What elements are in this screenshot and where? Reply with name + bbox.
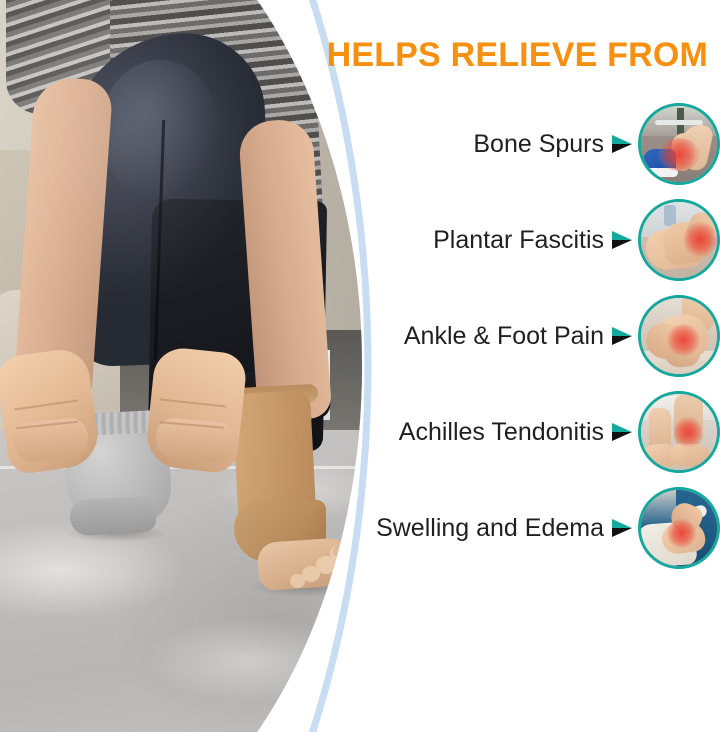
plantar-fascitis-thumbnail[interactable] bbox=[638, 199, 720, 281]
list-item[interactable]: Bone Spurs bbox=[330, 96, 720, 192]
thumbnail-image bbox=[641, 106, 717, 182]
condition-label: Plantar Fascitis bbox=[433, 228, 604, 253]
arrow-right-icon bbox=[610, 420, 634, 444]
pain-highlight bbox=[667, 519, 696, 548]
list-item[interactable]: Swelling and Edema bbox=[330, 480, 720, 576]
swelling-edema-thumbnail[interactable] bbox=[638, 487, 720, 569]
condition-label: Swelling and Edema bbox=[376, 516, 604, 541]
conditions-list: Bone Spurs bbox=[330, 96, 720, 576]
pain-highlight bbox=[684, 222, 717, 257]
ankle-foot-pain-thumbnail[interactable] bbox=[638, 295, 720, 377]
thumbnail-image bbox=[641, 490, 717, 566]
list-item[interactable]: Achilles Tendonitis bbox=[330, 384, 720, 480]
condition-label: Ankle & Foot Pain bbox=[404, 324, 604, 349]
thumbnail-image bbox=[641, 394, 717, 470]
product-benefits-poster: HELPS RELIEVE FROM Bone Spurs bbox=[0, 0, 720, 732]
thumbnail-image bbox=[641, 202, 717, 278]
pain-highlight bbox=[667, 324, 700, 356]
arrow-right-icon bbox=[610, 132, 634, 156]
condition-label: Bone Spurs bbox=[473, 132, 604, 157]
list-item[interactable]: Ankle & Foot Pain bbox=[330, 288, 720, 384]
arrow-right-icon bbox=[610, 324, 634, 348]
page-title: HELPS RELIEVE FROM bbox=[0, 36, 720, 75]
arrow-right-icon bbox=[610, 228, 634, 252]
content-panel: HELPS RELIEVE FROM Bone Spurs bbox=[0, 0, 720, 732]
thumbnail-image bbox=[641, 298, 717, 374]
pain-highlight bbox=[674, 417, 701, 447]
arrow-right-icon bbox=[610, 516, 634, 540]
list-item[interactable]: Plantar Fascitis bbox=[330, 192, 720, 288]
bone-spurs-thumbnail[interactable] bbox=[638, 103, 720, 185]
condition-label: Achilles Tendonitis bbox=[399, 420, 604, 445]
achilles-tendonitis-thumbnail[interactable] bbox=[638, 391, 720, 473]
